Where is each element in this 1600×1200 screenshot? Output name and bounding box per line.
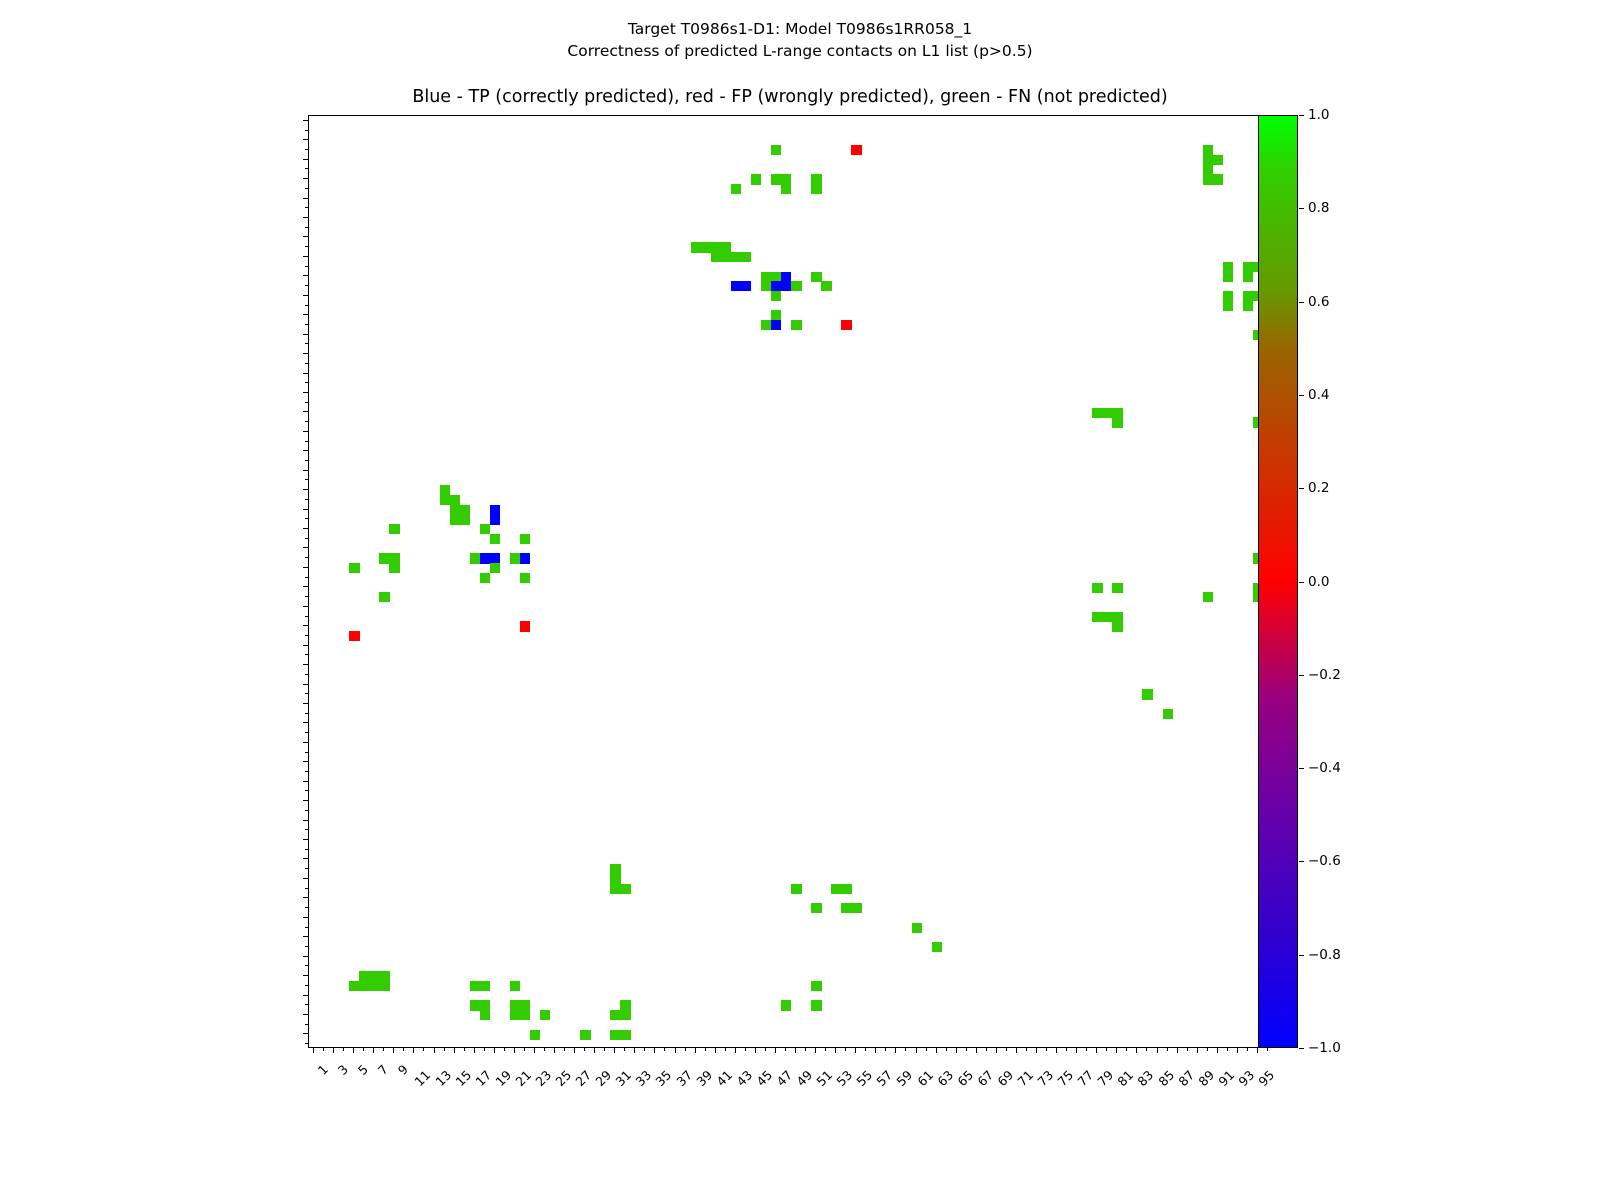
x-tick-label: 87: [1175, 1067, 1197, 1089]
contact-cell: [460, 505, 471, 515]
colorbar-tick-mark: [1299, 488, 1304, 489]
contact-cell: [791, 320, 802, 330]
x-tick-mark: [1267, 1048, 1268, 1051]
contact-cell: [510, 553, 521, 563]
contact-cell: [379, 981, 390, 991]
contact-cell: [510, 981, 521, 991]
x-tick-mark: [1187, 1048, 1188, 1051]
contact-cell: [530, 1030, 541, 1040]
x-tick-mark: [423, 1048, 424, 1051]
x-tick-mark: [735, 1048, 736, 1053]
contact-cell: [1112, 621, 1123, 631]
colorbar-tick-mark: [1299, 1048, 1304, 1049]
x-tick-mark: [454, 1048, 455, 1053]
contact-cell: [1213, 155, 1224, 165]
x-tick-mark: [1026, 1048, 1027, 1051]
x-tick-mark: [785, 1048, 786, 1051]
title-line-2: Correctness of predicted L-range contact…: [0, 40, 1600, 62]
x-tick-mark: [534, 1048, 535, 1053]
x-tick-mark: [966, 1048, 967, 1051]
x-tick-mark: [313, 1048, 314, 1053]
contact-cell: [349, 981, 360, 991]
x-tick-label: 61: [914, 1067, 936, 1089]
x-tick-mark: [383, 1048, 384, 1051]
x-tick-mark: [494, 1048, 495, 1053]
contact-cell: [811, 272, 822, 282]
contact-cell: [369, 981, 380, 991]
contact-cell: [480, 1010, 491, 1020]
contact-cell: [1213, 174, 1224, 184]
contact-cell: [440, 495, 451, 505]
x-tick-mark: [956, 1048, 957, 1053]
contact-cell: [811, 981, 822, 991]
x-tick-mark: [1036, 1048, 1037, 1053]
contact-cell: [490, 505, 501, 515]
contact-cell: [470, 1000, 481, 1010]
x-tick-mark: [905, 1048, 906, 1051]
contact-cell: [389, 563, 400, 573]
x-tick-mark: [775, 1048, 776, 1053]
contact-cell: [771, 174, 782, 184]
x-tick-mark: [1066, 1048, 1067, 1051]
contact-cell: [620, 1010, 631, 1020]
contact-cell: [520, 534, 531, 544]
contact-cell: [771, 281, 782, 291]
contact-cell: [761, 281, 772, 291]
colorbar-tick-label: 1.0: [1308, 107, 1329, 123]
contact-cell: [480, 524, 491, 534]
x-tick-label: 1: [315, 1062, 331, 1078]
contact-cell: [1223, 272, 1234, 282]
contact-cell: [831, 884, 842, 894]
contact-cell: [389, 524, 400, 534]
contact-cell: [731, 252, 742, 262]
x-tick-mark: [795, 1048, 796, 1053]
x-tick-mark: [1207, 1048, 1208, 1051]
contact-cell: [379, 592, 390, 602]
contact-cell: [490, 553, 501, 563]
x-tick-label: 21: [512, 1067, 534, 1089]
x-tick-mark: [1016, 1048, 1017, 1053]
contact-cell: [490, 534, 501, 544]
contact-cell: [520, 1000, 531, 1010]
colorbar-tick-mark: [1299, 208, 1304, 209]
x-tick-mark: [1257, 1048, 1258, 1053]
contact-cell: [851, 903, 862, 913]
x-tick-label: 11: [412, 1067, 434, 1089]
contact-cell: [480, 981, 491, 991]
x-tick-mark: [1146, 1048, 1147, 1051]
contact-cell: [912, 923, 923, 933]
x-tick-mark: [644, 1048, 645, 1051]
x-tick-mark: [403, 1048, 404, 1051]
x-tick-mark: [524, 1048, 525, 1051]
contact-cell: [470, 981, 481, 991]
x-tick-mark: [594, 1048, 595, 1053]
x-tick-mark: [444, 1048, 445, 1051]
x-tick-label: 19: [492, 1067, 514, 1089]
x-tick-label: 91: [1215, 1067, 1237, 1089]
x-tick-label: 15: [452, 1067, 474, 1089]
x-tick-label: 63: [934, 1067, 956, 1089]
x-tick-mark: [343, 1048, 344, 1051]
x-tick-mark: [624, 1048, 625, 1051]
contact-cell: [711, 252, 722, 262]
contact-cell: [1203, 165, 1214, 175]
x-tick-mark: [916, 1048, 917, 1053]
x-tick-mark: [544, 1048, 545, 1051]
x-tick-mark: [875, 1048, 876, 1053]
contact-cell: [450, 514, 461, 524]
x-tick-mark: [895, 1048, 896, 1053]
x-tick-mark: [825, 1048, 826, 1051]
x-tick-mark: [1197, 1048, 1198, 1053]
contact-cell: [440, 485, 451, 495]
contact-cell: [771, 145, 782, 155]
x-tick-mark: [765, 1048, 766, 1051]
contact-cell: [379, 971, 390, 981]
contact-cell: [851, 145, 862, 155]
x-tick-label: 3: [335, 1062, 351, 1078]
contact-cell: [450, 505, 461, 515]
x-tick-mark: [815, 1048, 816, 1053]
contact-cell: [610, 874, 621, 884]
x-tick-mark: [705, 1048, 706, 1051]
contact-cell: [811, 1000, 822, 1010]
contact-cell: [1163, 709, 1174, 719]
contact-cell: [349, 563, 360, 573]
colorbar-tick-mark: [1299, 582, 1304, 583]
contact-cell: [721, 242, 732, 252]
colorbar-tick-label: −0.4: [1308, 760, 1341, 776]
contact-cell: [460, 514, 471, 524]
x-tick-mark: [474, 1048, 475, 1053]
x-tick-label: 7: [375, 1062, 391, 1078]
colorbar-tick-label: 0.8: [1308, 200, 1329, 216]
contact-cell: [490, 563, 501, 573]
x-tick-mark: [946, 1048, 947, 1051]
contact-cell: [1112, 417, 1123, 427]
contact-cell: [610, 1030, 621, 1040]
x-tick-mark: [1126, 1048, 1127, 1051]
contact-cell: [480, 1000, 491, 1010]
colorbar-tick-label: 0.0: [1308, 574, 1329, 590]
x-tick-label: 25: [552, 1067, 574, 1089]
colorbar-tick-label: 0.4: [1308, 387, 1329, 403]
contact-cell: [751, 174, 762, 184]
x-tick-label: 5: [355, 1062, 371, 1078]
x-tick-mark: [353, 1048, 354, 1053]
x-tick-mark: [1056, 1048, 1057, 1053]
x-tick-mark: [1157, 1048, 1158, 1053]
contact-cell: [932, 942, 943, 952]
contact-cell: [781, 272, 792, 282]
colorbar-tick-label: 0.6: [1308, 294, 1329, 310]
contact-cell: [1102, 612, 1113, 622]
x-tick-mark: [1116, 1048, 1117, 1053]
x-tick-mark: [1177, 1048, 1178, 1053]
x-tick-label: 37: [673, 1067, 695, 1089]
contact-map-cells: [309, 116, 1271, 1047]
x-tick-mark: [373, 1048, 374, 1053]
contact-cell: [1092, 408, 1103, 418]
x-tick-mark: [835, 1048, 836, 1053]
colorbar-tick-mark: [1299, 115, 1304, 116]
x-tick-mark: [554, 1048, 555, 1053]
contact-cell: [1092, 612, 1103, 622]
contact-cell: [490, 514, 501, 524]
x-tick-mark: [323, 1048, 324, 1051]
contact-cell: [761, 272, 772, 282]
x-tick-mark: [1167, 1048, 1168, 1051]
contact-cell: [811, 174, 822, 184]
x-tick-mark: [1247, 1048, 1248, 1051]
x-tick-mark: [604, 1048, 605, 1051]
contact-cell: [731, 184, 742, 194]
x-tick-label: 93: [1235, 1067, 1257, 1089]
x-tick-label: 83: [1135, 1067, 1157, 1089]
contact-cell: [1112, 612, 1123, 622]
contact-cell: [610, 864, 621, 874]
x-tick-mark: [1046, 1048, 1047, 1051]
contact-cell: [369, 971, 380, 981]
x-tick-mark: [614, 1048, 615, 1053]
contact-cell: [711, 242, 722, 252]
colorbar-tick-label: 0.2: [1308, 480, 1329, 496]
colorbar-tick-label: −0.2: [1308, 667, 1341, 683]
contact-cell: [1142, 689, 1153, 699]
x-tick-mark: [715, 1048, 716, 1053]
x-tick-mark: [1076, 1048, 1077, 1053]
x-tick-label: 89: [1195, 1067, 1217, 1089]
contact-cell: [811, 903, 822, 913]
x-tick-mark: [1136, 1048, 1137, 1053]
contact-cell: [841, 320, 852, 330]
contact-cell: [1092, 583, 1103, 593]
x-tick-label: 71: [1014, 1067, 1036, 1089]
contact-cell: [701, 242, 712, 252]
x-tick-label: 41: [713, 1067, 735, 1089]
x-tick-mark: [855, 1048, 856, 1053]
contact-cell: [781, 281, 792, 291]
x-tick-mark: [514, 1048, 515, 1053]
x-tick-mark: [1106, 1048, 1107, 1051]
x-tick-mark: [996, 1048, 997, 1053]
contact-cell: [731, 281, 742, 291]
contact-cell: [450, 495, 461, 505]
y-axis: 1357911131517192123252729313335373941434…: [0, 115, 308, 1048]
x-tick-label: 51: [814, 1067, 836, 1089]
colorbar-tick-mark: [1299, 675, 1304, 676]
x-tick-label: 17: [472, 1067, 494, 1089]
title-line-1: Target T0986s1-D1: Model T0986s1RR058_1: [0, 18, 1600, 40]
chart-title-block: Target T0986s1-D1: Model T0986s1RR058_1 …: [0, 18, 1600, 62]
contact-cell: [821, 281, 832, 291]
x-tick-label: 85: [1155, 1067, 1177, 1089]
x-tick-mark: [885, 1048, 886, 1051]
contact-cell: [1223, 301, 1234, 311]
contact-cell: [520, 573, 531, 583]
contact-cell: [691, 242, 702, 252]
colorbar-tick-mark: [1299, 302, 1304, 303]
x-tick-label: 65: [954, 1067, 976, 1089]
contact-cell: [520, 621, 531, 631]
x-tick-mark: [1096, 1048, 1097, 1053]
x-tick-mark: [805, 1048, 806, 1051]
contact-cell: [1243, 291, 1254, 301]
x-tick-mark: [865, 1048, 866, 1051]
contact-cell: [359, 981, 370, 991]
contact-map-plot: [308, 115, 1272, 1048]
contact-cell: [1243, 272, 1254, 282]
contact-cell: [1203, 145, 1214, 155]
x-tick-mark: [685, 1048, 686, 1051]
x-tick-label: 47: [773, 1067, 795, 1089]
contact-cell: [480, 573, 491, 583]
x-tick-label: 45: [753, 1067, 775, 1089]
x-tick-mark: [464, 1048, 465, 1051]
x-tick-mark: [393, 1048, 394, 1053]
contact-cell: [540, 1010, 551, 1020]
x-tick-mark: [845, 1048, 846, 1051]
contact-cell: [721, 252, 732, 262]
colorbar-tick-label: −1.0: [1308, 1040, 1341, 1056]
contact-cell: [359, 971, 370, 981]
x-tick-label: 27: [573, 1067, 595, 1089]
x-tick-mark: [745, 1048, 746, 1051]
contact-cell: [349, 631, 360, 641]
x-tick-mark: [936, 1048, 937, 1053]
contact-cell: [1243, 301, 1254, 311]
x-tick-mark: [1086, 1048, 1087, 1051]
x-tick-mark: [654, 1048, 655, 1053]
x-axis: 1357911131517192123252729313335373941434…: [308, 1048, 1272, 1118]
contact-cell: [1223, 291, 1234, 301]
x-tick-mark: [434, 1048, 435, 1053]
contact-cell: [1102, 408, 1113, 418]
contact-cell: [1203, 155, 1214, 165]
contact-cell: [811, 184, 822, 194]
contact-cell: [741, 252, 752, 262]
x-tick-mark: [926, 1048, 927, 1051]
x-tick-mark: [363, 1048, 364, 1051]
colorbar-tick-label: −0.8: [1308, 947, 1341, 963]
contact-cell: [781, 1000, 792, 1010]
contact-cell: [771, 320, 782, 330]
contact-cell: [781, 174, 792, 184]
contact-cell: [580, 1030, 591, 1040]
x-tick-label: 43: [733, 1067, 755, 1089]
contact-cell: [761, 320, 772, 330]
colorbar-tick-label: −0.6: [1308, 853, 1341, 869]
x-tick-mark: [1227, 1048, 1228, 1051]
contact-cell: [841, 903, 852, 913]
x-tick-label: 73: [1034, 1067, 1056, 1089]
contact-cell: [510, 1010, 521, 1020]
x-tick-label: 75: [1055, 1067, 1077, 1089]
x-tick-mark: [695, 1048, 696, 1053]
x-tick-mark: [584, 1048, 585, 1051]
contact-cell: [1243, 262, 1254, 272]
colorbar-tick-mark: [1299, 395, 1304, 396]
contact-cell: [379, 553, 390, 563]
x-tick-mark: [413, 1048, 414, 1053]
contact-cell: [480, 553, 491, 563]
contact-cell: [389, 553, 400, 563]
x-tick-mark: [675, 1048, 676, 1053]
contact-cell: [610, 1010, 621, 1020]
contact-cell: [620, 884, 631, 894]
chart-legend-subtitle: Blue - TP (correctly predicted), red - F…: [308, 87, 1272, 107]
contact-cell: [841, 884, 852, 894]
contact-cell: [771, 272, 782, 282]
contact-cell: [771, 310, 782, 320]
x-tick-label: 59: [894, 1067, 916, 1089]
contact-cell: [610, 884, 621, 894]
x-tick-mark: [1237, 1048, 1238, 1053]
colorbar: [1258, 115, 1298, 1048]
contact-cell: [1203, 174, 1214, 184]
x-tick-mark: [664, 1048, 665, 1051]
contact-cell: [620, 1030, 631, 1040]
contact-cell: [741, 281, 752, 291]
contact-cell: [1112, 408, 1123, 418]
x-tick-mark: [634, 1048, 635, 1053]
colorbar-tick-mark: [1299, 955, 1304, 956]
x-tick-label: 13: [432, 1067, 454, 1089]
x-tick-mark: [564, 1048, 565, 1051]
x-tick-label: 95: [1255, 1067, 1277, 1089]
x-tick-mark: [725, 1048, 726, 1051]
x-tick-label: 9: [395, 1062, 411, 1078]
contact-cell: [510, 1000, 521, 1010]
x-tick-label: 35: [653, 1067, 675, 1089]
x-tick-label: 39: [693, 1067, 715, 1089]
x-tick-mark: [484, 1048, 485, 1051]
contact-cell: [520, 1010, 531, 1020]
contact-cell: [771, 291, 782, 301]
contact-cell: [791, 884, 802, 894]
contact-cell: [1112, 583, 1123, 593]
contact-cell: [620, 1000, 631, 1010]
x-tick-mark: [976, 1048, 977, 1053]
x-tick-mark: [1006, 1048, 1007, 1051]
contact-cell: [520, 553, 531, 563]
x-tick-mark: [755, 1048, 756, 1053]
colorbar-tick-mark: [1299, 768, 1304, 769]
contact-cell: [791, 281, 802, 291]
x-tick-label: 69: [994, 1067, 1016, 1089]
contact-cell: [470, 553, 481, 563]
x-tick-label: 23: [532, 1067, 554, 1089]
x-tick-mark: [504, 1048, 505, 1051]
x-tick-mark: [574, 1048, 575, 1053]
colorbar-tick-mark: [1299, 861, 1304, 862]
contact-cell: [1223, 262, 1234, 272]
x-tick-label: 67: [974, 1067, 996, 1089]
x-tick-label: 49: [793, 1067, 815, 1089]
contact-cell: [1203, 592, 1214, 602]
x-tick-mark: [986, 1048, 987, 1051]
x-tick-mark: [333, 1048, 334, 1053]
contact-cell: [781, 184, 792, 194]
x-tick-mark: [1217, 1048, 1218, 1053]
